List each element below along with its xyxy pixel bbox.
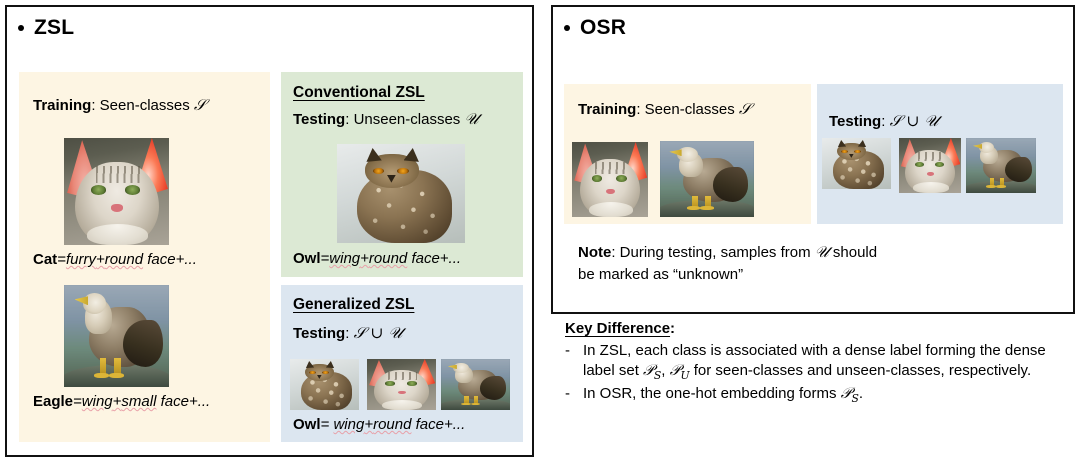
eagle-attribute-line: Eagle=wing+small face+...: [33, 393, 210, 410]
eagle-photo-osr: [660, 141, 754, 217]
owl-photo: [337, 144, 465, 243]
kd1-mid: ,: [661, 362, 669, 379]
cat-eye-left: [592, 175, 603, 182]
eagle-wing: [1005, 157, 1032, 182]
cat-eye-left: [385, 381, 395, 386]
osr-training-rest: : Seen-classes: [636, 101, 734, 118]
cat-photo: [64, 138, 169, 245]
cat-attribute-line: Cat=furry+round face+...: [33, 251, 197, 268]
testing-label-2: Testing: [293, 325, 345, 342]
owl-photo-thumb: [290, 359, 359, 410]
cat-forehead-stripes: [918, 152, 944, 161]
eagle-label: Eagle: [33, 393, 73, 410]
cat-chin: [87, 224, 148, 245]
bullet-dot-icon: [18, 25, 24, 31]
eagle-photo-osr-thumb: [966, 138, 1036, 193]
kd2-seg2: .: [859, 385, 863, 402]
owl-label: Owl: [293, 250, 321, 267]
symbol-seen-set: 𝒮: [194, 96, 206, 114]
eagle-foot-right: [996, 185, 1006, 188]
zsl-training-heading: Training: Seen-classes 𝒮: [33, 96, 206, 116]
eagle-wing: [123, 320, 163, 367]
owl-feather-speckles: [363, 178, 450, 239]
owl-photo-osr-thumb: [822, 138, 891, 189]
kd1-sym1: 𝒫S: [643, 361, 661, 379]
bullet-dot-icon: [564, 25, 570, 31]
symbol-union-set: 𝒮 ∪ 𝒰: [354, 324, 403, 342]
key-difference-title-text: Key Difference: [565, 320, 670, 337]
kd1-seg2: for seen-classes and unseen-classes, res…: [690, 362, 1032, 379]
cat-nose: [398, 391, 406, 395]
eagle-attr-1: wing: [82, 393, 113, 410]
osr-title-text: OSR: [580, 16, 626, 40]
cat-eye-right: [935, 162, 944, 167]
testing-rest: : Unseen-classes: [345, 111, 460, 128]
owl-eye-right: [397, 168, 409, 174]
cat-attr-2: round: [105, 251, 143, 268]
testing-rest-2: :: [345, 325, 349, 342]
generalized-testing-line: Testing: 𝒮 ∪ 𝒰: [293, 324, 402, 344]
list-item: - In OSR, the one-hot embedding forms 𝒫S…: [565, 384, 1065, 406]
list-bullet-dash: -: [565, 341, 583, 383]
zsl-bullet-title: ZSL: [18, 16, 74, 40]
cat-forehead-stripes: [96, 166, 140, 183]
key-difference-colon: :: [670, 320, 675, 337]
owl-attribute-line-generalized: Owl= wing+round face+...: [293, 416, 465, 433]
symbol-unseen-set: 𝒰: [464, 110, 478, 128]
kd1-sym2: 𝒫U: [670, 361, 690, 379]
eagle-wing: [713, 167, 749, 202]
owl-eq: =: [321, 250, 330, 267]
cat-eye-right: [125, 185, 140, 195]
cat-chin: [382, 400, 422, 410]
owl-attr-2b: round: [373, 416, 411, 433]
osr-testing-label: Testing: [829, 113, 881, 130]
eagle-photo: [64, 285, 169, 387]
owl-eye-left: [373, 168, 385, 174]
osr-testing-heading: Testing: 𝒮 ∪ 𝒰: [829, 112, 938, 132]
testing-label: Testing: [293, 111, 345, 128]
training-rest: : Seen-classes: [91, 97, 189, 114]
osr-training-label: Training: [578, 101, 636, 118]
conventional-testing-line: Testing: Unseen-classes 𝒰: [293, 110, 478, 130]
cat-forehead-stripes: [388, 372, 417, 380]
cat-eq: =: [57, 251, 66, 268]
eagle-photo-thumb: [441, 359, 510, 410]
owl-attr-1b: wing: [333, 416, 364, 433]
owl-plus-1b: +: [364, 416, 373, 433]
note-line1-b: should: [829, 244, 877, 261]
note-label: Note: [578, 244, 611, 261]
cat-nose: [111, 204, 123, 211]
cat-label: Cat: [33, 251, 57, 268]
eagle-foot-right: [109, 373, 124, 378]
owl-attr-2: round: [369, 250, 407, 267]
owl-feather-speckles: [304, 376, 351, 408]
owl-attr-1: wing: [329, 250, 360, 267]
kd2-sym1: 𝒫S: [841, 384, 859, 402]
cat-photo-osr: [572, 142, 648, 217]
eagle-foot-right: [700, 206, 713, 210]
eagle-foot-left: [986, 185, 996, 188]
list-item-text: In ZSL, each class is associated with a …: [583, 341, 1065, 383]
key-difference-block: Key Difference: - In ZSL, each class is …: [565, 320, 1065, 406]
cat-chin: [589, 202, 633, 217]
list-bullet-dash: -: [565, 384, 583, 406]
generalized-zsl-title: Generalized ZSL: [293, 296, 414, 314]
osr-testing-rest: :: [881, 113, 885, 130]
owl-attr-tail: face+...: [407, 250, 461, 267]
eagle-foot-left: [94, 373, 109, 378]
cat-eye-left: [915, 162, 924, 167]
list-item-text: In OSR, the one-hot embedding forms 𝒫S.: [583, 384, 1065, 406]
owl-attr-tail-2: face+...: [411, 416, 465, 433]
cat-photo-thumb: [367, 359, 436, 410]
symbol-union-set: 𝒮 ∪ 𝒰: [890, 112, 939, 130]
cat-photo-osr-thumb: [899, 138, 961, 193]
note-line1-a: : During testing, samples from: [611, 244, 814, 261]
kd2-seg1: In OSR, the one-hot embedding forms: [583, 385, 841, 402]
cat-nose: [606, 189, 614, 194]
conventional-zsl-title: Conventional ZSL: [293, 84, 425, 102]
eagle-wing: [480, 376, 506, 399]
cat-attr-1: furry: [66, 251, 96, 268]
symbol-seen-set: 𝒮: [739, 100, 751, 118]
cat-chin: [913, 182, 949, 193]
cat-forehead-stripes: [595, 162, 627, 174]
zsl-title-text: ZSL: [34, 16, 74, 40]
key-difference-title: Key Difference:: [565, 320, 1065, 337]
key-difference-list: - In ZSL, each class is associated with …: [565, 341, 1065, 406]
slide-root: ZSL Training: Seen-classes 𝒮 Cat=furry+r…: [0, 0, 1080, 468]
owl-feather-speckles: [836, 155, 883, 187]
cat-eye-right: [407, 381, 417, 386]
owl-plus-1: +: [360, 250, 369, 267]
osr-training-heading: Training: Seen-classes 𝒮: [578, 100, 751, 120]
owl-label-2: Owl: [293, 416, 321, 433]
cat-nose: [927, 172, 934, 176]
symbol-unseen-set: 𝒰: [815, 243, 829, 261]
training-label: Training: [33, 97, 91, 114]
eagle-attr-2: small: [121, 393, 156, 410]
owl-eq-2: =: [321, 416, 334, 433]
cat-attr-tail: face+...: [143, 251, 197, 268]
cat-eye-right: [616, 175, 627, 182]
cat-plus-1: +: [96, 251, 105, 268]
list-item: - In ZSL, each class is associated with …: [565, 341, 1065, 383]
osr-bullet-title: OSR: [564, 16, 626, 40]
owl-attribute-line-conventional: Owl=wing+round face+...: [293, 250, 461, 267]
osr-note-line-2: be marked as “unknown”: [578, 266, 743, 285]
cat-eye-left: [91, 185, 106, 195]
eagle-attr-tail: face+...: [156, 393, 210, 410]
osr-note-line-1: Note: During testing, samples from 𝒰 sho…: [578, 243, 877, 263]
eagle-eq: =: [73, 393, 82, 410]
